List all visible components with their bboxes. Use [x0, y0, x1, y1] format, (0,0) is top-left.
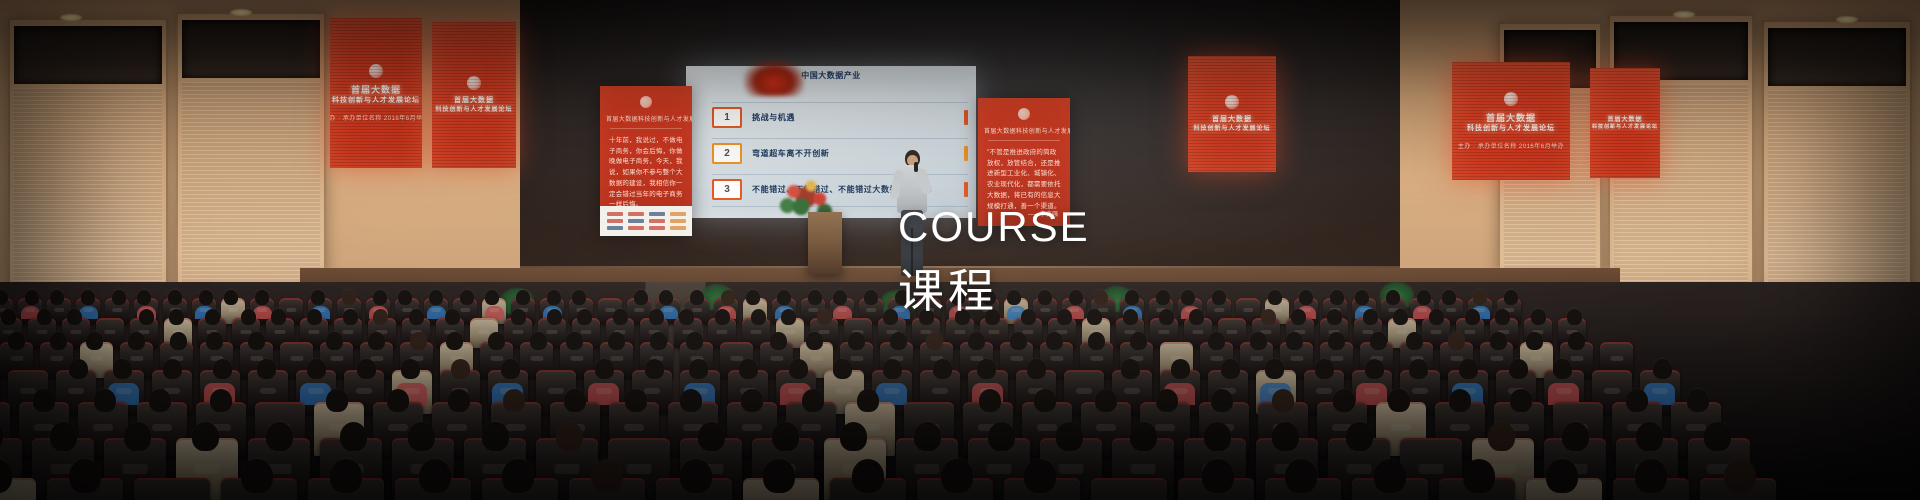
audience-head [1653, 359, 1672, 379]
audience-head [1130, 422, 1157, 451]
audience-head [137, 290, 151, 305]
audience-head [139, 309, 154, 325]
audience-head [890, 332, 907, 350]
led-left2-line2: 科技创新与人才发展论坛 [435, 106, 512, 114]
audience-head [808, 290, 822, 305]
audience-head [1473, 290, 1487, 305]
audience-head [982, 290, 996, 305]
audience-head [373, 290, 387, 305]
audience-head [1156, 290, 1170, 305]
audience-head [1553, 359, 1572, 379]
audience-head [680, 389, 702, 412]
audience-seat [1004, 478, 1080, 500]
slide-item-3-number: 3 [712, 179, 742, 200]
audience-head [368, 332, 385, 350]
audience-seat [1091, 478, 1167, 500]
audience-head [206, 332, 223, 350]
audience-head [1626, 389, 1648, 412]
banner-left-body: 十年前，我说过，不做电子商务，你会后悔，你做晚做电子商务，今天，我说，如果你不参… [609, 136, 683, 211]
led-logo-icon [1225, 95, 1239, 109]
audience-head [343, 309, 358, 325]
audience-head [199, 290, 213, 305]
audience-head [37, 309, 52, 325]
audience-seat [743, 478, 819, 500]
audience-head [1567, 309, 1582, 325]
audience-head [1546, 459, 1578, 493]
course-hero-banner: 首届大数据 科技创新与人才发展论坛 主办 · 承办单位名称 2016年6月举办 … [0, 0, 1920, 500]
audience-head [1265, 359, 1284, 379]
microphone-icon [914, 162, 918, 172]
audience-head [1010, 332, 1027, 350]
audience-head [67, 309, 82, 325]
led-left-line3: 主办 · 承办单位名称 2016年6月举办 [330, 113, 422, 122]
audience-head [1094, 290, 1108, 305]
audience-head [802, 389, 824, 412]
audience-head [577, 309, 592, 325]
audience-head [1261, 309, 1276, 325]
slide-item-3-marker [964, 182, 968, 197]
banner-rule [610, 128, 682, 129]
led-right-line1: 首届大数据 [1212, 115, 1252, 124]
audience-head [8, 332, 25, 350]
audience-head [833, 290, 847, 305]
audience-head [401, 359, 420, 379]
audience-head [1057, 309, 1072, 325]
audience-head [1388, 389, 1410, 412]
audience-head [741, 389, 763, 412]
audience-head [1509, 359, 1528, 379]
banner-right-header: 首届大数据科技创新与人才发展论坛 [984, 126, 1064, 135]
audience-head [848, 332, 865, 350]
speaker-leg-split [911, 228, 913, 276]
audience-seat [1613, 478, 1689, 500]
audience-head [1189, 309, 1204, 325]
audience-seat [917, 478, 993, 500]
banner-logo-icon [1018, 108, 1030, 120]
audience-head [645, 359, 664, 379]
led-fr2-line1: 首届大数据 [1607, 116, 1642, 124]
audience-head [781, 309, 796, 325]
audience-head [840, 422, 867, 451]
audience-head [1393, 309, 1408, 325]
audience-head [445, 309, 460, 325]
audience-seat [1178, 478, 1254, 500]
audience-head [689, 359, 708, 379]
banner-logo-icon [640, 96, 652, 108]
panel-glass [1768, 28, 1906, 86]
audience-head [977, 359, 996, 379]
audience-head [326, 389, 348, 412]
led-left-line2: 科技创新与人才发展论坛 [332, 96, 420, 105]
audience-head [1056, 422, 1083, 451]
audience-head [679, 309, 694, 325]
slide-title: 中国大数据产业 [686, 70, 976, 81]
downlight-icon [230, 9, 252, 16]
audience-head [482, 422, 509, 451]
audience-head [595, 359, 614, 379]
audience-head [1495, 309, 1510, 325]
audience-head [1406, 332, 1423, 350]
audience-head [94, 389, 116, 412]
audience-head [789, 359, 808, 379]
audience-head [485, 290, 499, 305]
audience-head [1024, 459, 1056, 493]
audience-head [1636, 422, 1663, 451]
audience-head [1448, 332, 1465, 350]
downlight-icon [60, 14, 82, 21]
audience-head [1204, 422, 1231, 451]
audience-head [1346, 422, 1373, 451]
audience-head [1286, 332, 1303, 350]
banner-rule [988, 140, 1060, 141]
audience-head [387, 389, 409, 412]
audience-seat [0, 478, 36, 500]
audience-seat [656, 478, 732, 500]
audience-head [988, 422, 1015, 451]
audience-head [566, 332, 583, 350]
audience-head [1409, 359, 1428, 379]
audience-head [1687, 389, 1709, 412]
audience-head [955, 309, 970, 325]
audience-head [1449, 389, 1471, 412]
audience-head [448, 389, 470, 412]
audience-head [1272, 422, 1299, 451]
banner-left-header: 首届大数据科技创新与人才发展论坛 [606, 114, 686, 123]
audience-head [852, 459, 884, 493]
audience-head [746, 290, 760, 305]
audience-head [817, 309, 832, 325]
audience-head [271, 309, 286, 325]
audience-head [1386, 290, 1400, 305]
audience-head [1069, 290, 1083, 305]
audience-head [1088, 332, 1105, 350]
stage-banner-left: 首届大数据科技创新与人才发展论坛 十年前，我说过，不做电子商务，你会后悔，你做晚… [600, 86, 692, 236]
audience-head [511, 309, 526, 325]
audience-head [1021, 309, 1036, 325]
audience-head [86, 332, 103, 350]
slide-item-1-text: 挑战与机遇 [752, 112, 795, 123]
audience-head [81, 290, 95, 305]
audience-head [1370, 332, 1387, 350]
audience-head [883, 309, 898, 325]
audience-head [933, 359, 952, 379]
audience-head [69, 459, 101, 493]
audience-head [1130, 332, 1147, 350]
audience-head [1121, 359, 1140, 379]
audience-seat [830, 478, 906, 500]
audience-head [919, 309, 934, 325]
audience-head [1488, 422, 1515, 451]
led-wall-left: 首届大数据 科技创新与人才发展论坛 主办 · 承办单位名称 2016年6月举办 [330, 18, 422, 168]
audience-head [112, 290, 126, 305]
led-fr-line2: 科技创新与人才发展论坛 [1467, 124, 1555, 133]
slide-item-1: 1 挑战与机遇 [712, 106, 968, 128]
audience-seat [569, 478, 645, 500]
led-fr2-line2: 科技创新与人才发展论坛 [1592, 124, 1658, 131]
audience-head [1490, 332, 1507, 350]
audience-head [419, 459, 451, 493]
audience-head [128, 332, 145, 350]
audience-head [410, 332, 427, 350]
audience-head [1034, 389, 1056, 412]
audience-head [1526, 332, 1543, 350]
audience-head [330, 459, 362, 493]
audience-head [968, 332, 985, 350]
audience-head [1156, 389, 1178, 412]
audience-head [941, 459, 973, 493]
audience-head [1724, 459, 1756, 493]
audience-head [169, 309, 184, 325]
audience-head [895, 290, 909, 305]
audience-head [979, 389, 1001, 412]
audience-head [409, 309, 424, 325]
audience-head [1181, 290, 1195, 305]
led-fr-line1: 首届大数据 [1486, 112, 1536, 124]
audience-head [1417, 290, 1431, 305]
led-wall-left-2: 首届大数据 科技创新与人才发展论坛 [432, 22, 516, 168]
audience-head [340, 422, 367, 451]
audience-head [1442, 290, 1456, 305]
audience-head [149, 389, 171, 412]
audience-seat [395, 478, 471, 500]
audience-head [50, 332, 67, 350]
audience-head [1027, 359, 1046, 379]
audience-head [1330, 290, 1344, 305]
led-right-line2: 科技创新与人才发展论坛 [1193, 125, 1270, 133]
audience-seat [482, 478, 558, 500]
audience-head [613, 309, 628, 325]
led-logo-icon [1504, 92, 1518, 106]
stage-banner-right: 首届大数据科技创新与人才发展论坛 "不管是推进政府的简政放权，放管结合，还是推进… [978, 98, 1070, 226]
audience-head [307, 359, 326, 379]
slide-item-1-number: 1 [712, 107, 742, 128]
audience-head [1046, 332, 1063, 350]
audience-head [516, 290, 530, 305]
audience-head [1171, 359, 1190, 379]
audience-head [1363, 309, 1378, 325]
audience-head [591, 459, 623, 493]
audience-head [1095, 389, 1117, 412]
audience-seat [1700, 478, 1776, 500]
audience-head [398, 290, 412, 305]
audience-head [1463, 459, 1495, 493]
audience-head [1465, 309, 1480, 325]
audience-head [1285, 459, 1317, 493]
audience-head [408, 422, 435, 451]
audience-head [634, 290, 648, 305]
audience-head [572, 290, 586, 305]
banner-sponsor-strip [600, 206, 692, 236]
audience-head [1291, 309, 1306, 325]
audience-head [1704, 422, 1731, 451]
led-left-line1: 首届大数据 [351, 84, 401, 96]
audience-seat [1265, 478, 1341, 500]
audience-head [1429, 309, 1444, 325]
audience-head [1038, 290, 1052, 305]
audience-head [772, 422, 799, 451]
audience-head [715, 309, 730, 325]
audience-head [1299, 290, 1313, 305]
audience-head [241, 459, 273, 493]
audience-head [33, 389, 55, 412]
audience-head [530, 332, 547, 350]
audience-head [326, 332, 343, 350]
audience-head [0, 290, 8, 305]
audience-head [680, 459, 712, 493]
audience-head [1504, 290, 1518, 305]
audience-head [451, 359, 470, 379]
audience-head [659, 290, 673, 305]
audience-head [446, 332, 463, 350]
audience-head [1459, 359, 1478, 379]
audience-head [1562, 422, 1589, 451]
audience-head [1365, 359, 1384, 379]
audience-head [168, 290, 182, 305]
audience-head [192, 422, 219, 451]
audience-head [248, 332, 265, 350]
audience-head [113, 359, 132, 379]
audience-head [1211, 389, 1233, 412]
auditorium-photo: 首届大数据 科技创新与人才发展论坛 主办 · 承办单位名称 2016年6月举办 … [0, 0, 1920, 500]
audience-seat [308, 478, 384, 500]
audience-head [213, 359, 232, 379]
audience-head [833, 359, 852, 379]
audience-head [985, 309, 1000, 325]
led-left2-line1: 首届大数据 [454, 96, 494, 105]
projector-hotspot [744, 60, 804, 96]
audience-head [1327, 309, 1342, 325]
audience-head [241, 309, 256, 325]
audience-head [625, 389, 647, 412]
audience-head [307, 309, 322, 325]
audience-head [690, 290, 704, 305]
audience-head [124, 422, 151, 451]
audience-head [503, 389, 525, 412]
audience-head [806, 332, 823, 350]
led-wall-far-right-2: 首届大数据 科技创新与人才发展论坛 [1590, 68, 1660, 178]
audience-head [1007, 290, 1021, 305]
audience-head [698, 422, 725, 451]
audience-head [1355, 290, 1369, 305]
audience-head [608, 332, 625, 350]
led-logo-icon [369, 64, 383, 78]
audience-head [686, 332, 703, 350]
downlight-icon [1836, 16, 1858, 23]
audience-head [170, 332, 187, 350]
audience-head [429, 290, 443, 305]
audience-head [502, 459, 534, 493]
slide-item-2-marker [964, 146, 968, 161]
audience-head [547, 309, 562, 325]
panel-glass [14, 26, 162, 84]
speaker-figure [892, 150, 932, 276]
led-fr-line3: 主办 · 承办单位名称 2016年6月举办 [1458, 141, 1564, 150]
audience-head [1123, 309, 1138, 325]
audience-head [564, 389, 586, 412]
audience-head [926, 332, 943, 350]
audience-head [777, 290, 791, 305]
audience-head [357, 359, 376, 379]
audience-seat [134, 478, 210, 500]
audience-head [266, 422, 293, 451]
audience-head [1, 309, 16, 325]
audience-head [50, 290, 64, 305]
audience-head [224, 290, 238, 305]
audience-seat [47, 478, 123, 500]
audience-head [311, 290, 325, 305]
audience-seat [221, 478, 297, 500]
audience-head [257, 359, 276, 379]
audience-head [163, 359, 182, 379]
audience-head [1315, 359, 1334, 379]
slide-item-2-number: 2 [712, 143, 742, 164]
audience-head [547, 290, 561, 305]
audience-seat [1352, 478, 1428, 500]
audience-head [883, 359, 902, 379]
audience-head [255, 290, 269, 305]
audience-head [1272, 389, 1294, 412]
audience-head [1212, 290, 1226, 305]
audience-head [721, 290, 735, 305]
audience-head [1531, 309, 1546, 325]
audience-head [857, 389, 879, 412]
panel-glass [182, 20, 320, 78]
audience-head [1159, 309, 1174, 325]
banner-right-body: "不管是推进政府的简政放权，放管结合，还是推进新型工业化、城镇化、农业现代化，都… [987, 148, 1061, 212]
audience-head [460, 290, 474, 305]
audience-head [501, 359, 520, 379]
audience-head [69, 359, 88, 379]
audience-head [1125, 290, 1139, 305]
audience-head [488, 332, 505, 350]
audience-head [205, 309, 220, 325]
audience-head [770, 332, 787, 350]
audience-head [1328, 332, 1345, 350]
audience-head [1208, 332, 1225, 350]
audience-seat [1526, 478, 1602, 500]
audience-head [1374, 459, 1406, 493]
audience-head [25, 290, 39, 305]
audience-head [751, 309, 766, 325]
audience-head [1333, 389, 1355, 412]
audience-head [1087, 309, 1102, 325]
lectern [808, 212, 842, 274]
audience-head [650, 332, 667, 350]
audience-area [0, 282, 1920, 500]
audience-head [342, 290, 356, 305]
slide-item-2-text: 弯道超车离不开创新 [752, 148, 829, 159]
led-logo-icon [467, 76, 481, 90]
audience-head [210, 389, 232, 412]
audience-head [1202, 459, 1234, 493]
audience-head [556, 422, 583, 451]
audience-head [914, 422, 941, 451]
audience-head [951, 290, 965, 305]
audience-head [1635, 459, 1667, 493]
slide-item-1-marker [964, 110, 968, 125]
audience-head [1510, 389, 1532, 412]
audience-head [1221, 359, 1240, 379]
led-wall-far-right: 首届大数据 科技创新与人才发展论坛 主办 · 承办单位名称 2016年6月举办 [1452, 62, 1570, 180]
audience-head [50, 422, 77, 451]
led-wall-right: 首届大数据 科技创新与人才发展论坛 [1188, 56, 1276, 172]
audience-head [1250, 332, 1267, 350]
audience-head [864, 290, 878, 305]
audience-seat [1439, 478, 1515, 500]
audience-head [739, 359, 758, 379]
audience-head [1268, 290, 1282, 305]
downlight-icon [1673, 11, 1695, 18]
